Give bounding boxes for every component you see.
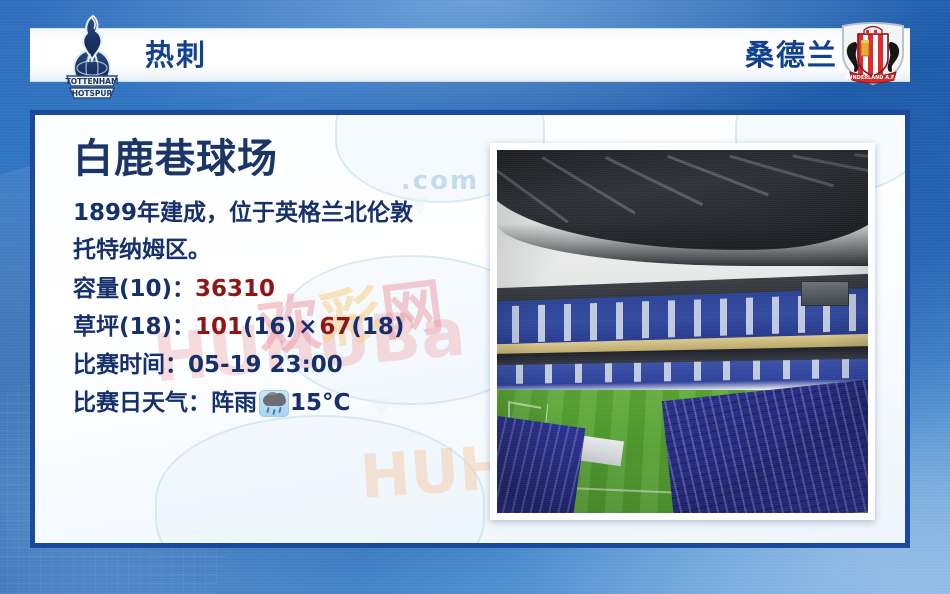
capacity-value: 36310 xyxy=(195,270,275,308)
watermark-domain-label-3: .com xyxy=(268,536,372,548)
weather-condition: 阵雨 xyxy=(211,384,257,422)
stadium-photo-frame xyxy=(490,143,875,520)
away-team-name: 桑德兰 xyxy=(745,41,838,70)
cloud-body xyxy=(263,395,286,406)
pitch-size-row: 草坪(18)： 101 (16) × 67 (18) xyxy=(73,308,493,346)
watermark-cloud-bottom: .com xyxy=(155,415,485,548)
weather-temperature: 15°C xyxy=(290,384,350,422)
svg-text:HOTSPUR: HOTSPUR xyxy=(72,89,113,98)
match-time-row: 比赛时间： 05-19 23:00 xyxy=(73,346,493,384)
rain-cloud-icon xyxy=(259,390,289,417)
stadium-details-column: 白鹿巷球场 1899年建成，位于英格兰北伦敦 托特纳姆区。 容量(10)： 36… xyxy=(73,137,493,422)
pitch-length-rank: (16) xyxy=(243,308,296,346)
capacity-label: 容量(10)： xyxy=(73,270,195,308)
svg-text:TOTTENHAM: TOTTENHAM xyxy=(66,77,119,86)
rain-drop xyxy=(272,408,275,414)
match-time-value: 05-19 23:00 xyxy=(188,346,343,384)
stadium-info-panel: .com .com .com HUHUBa HUHUBa 欢彩网 欢呼吧 白鹿巷… xyxy=(30,110,910,548)
pitch-dimension-separator: × xyxy=(296,308,319,346)
stadium-photo xyxy=(497,150,868,513)
stadium-title: 白鹿巷球场 xyxy=(73,137,493,181)
match-header-bar: 热刺 桑德兰 xyxy=(30,28,910,82)
photo-dither-texture xyxy=(497,150,868,513)
stadium-description-line-1: 1899年建成，位于英格兰北伦敦 xyxy=(73,195,493,232)
pitch-length-value: 101 xyxy=(195,308,243,346)
rain-drop xyxy=(266,406,269,412)
watermark-huhuba-cn-text: 欢呼吧 xyxy=(265,541,437,548)
stadium-description-line-2: 托特纳姆区。 xyxy=(73,232,493,269)
match-weather-row: 比赛日天气： 阵雨 15°C xyxy=(73,384,493,422)
pitch-label: 草坪(18)： xyxy=(73,308,195,346)
tottenham-hotspur-crest-icon: TOTTENHAM HOTSPUR xyxy=(63,10,121,102)
match-time-label: 比赛时间： xyxy=(73,346,188,384)
rain-drop xyxy=(278,406,281,412)
sunderland-afc-crest-icon: SUNDERLAND A.F.C. xyxy=(838,20,908,86)
weather-label: 比赛日天气： xyxy=(73,384,211,422)
pitch-width-value: 67 xyxy=(319,308,351,346)
pitch-width-rank: (18) xyxy=(351,308,404,346)
capacity-row: 容量(10)： 36310 xyxy=(73,270,493,308)
home-team-name: 热刺 xyxy=(145,41,207,70)
svg-text:SUNDERLAND A.F.C.: SUNDERLAND A.F.C. xyxy=(845,75,902,81)
